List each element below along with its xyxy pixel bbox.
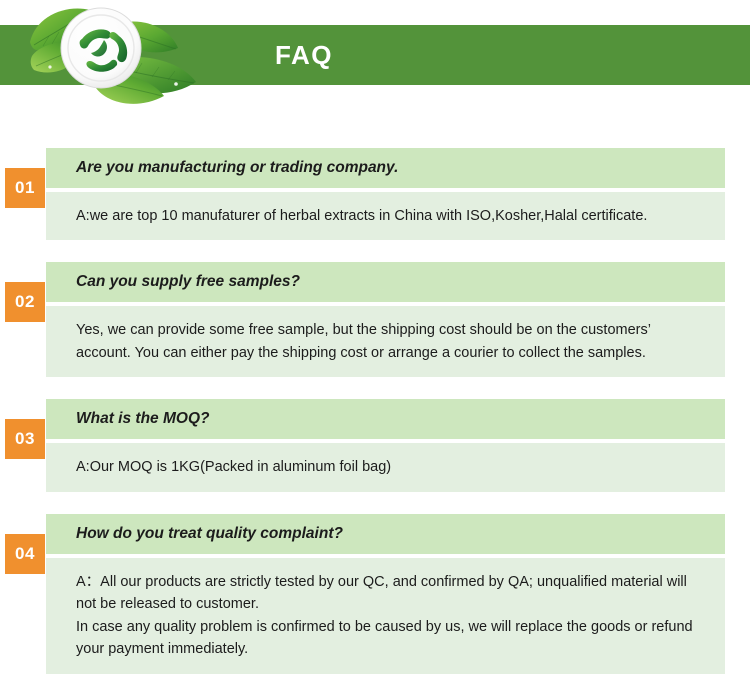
faq-item: 02 Can you supply free samples? Yes, we … — [0, 262, 750, 377]
faq-number-badge: 01 — [5, 168, 45, 208]
faq-item: 01 Are you manufacturing or trading comp… — [0, 148, 750, 240]
faq-answer: A:we are top 10 manufaturer of herbal ex… — [46, 192, 725, 240]
faq-number-badge: 02 — [5, 282, 45, 322]
page-header: FAQ — [0, 0, 750, 120]
faq-item: 03 What is the MOQ? A:Our MOQ is 1KG(Pac… — [0, 399, 750, 491]
faq-item: 04 How do you treat quality complaint? A… — [0, 514, 750, 674]
faq-question[interactable]: Are you manufacturing or trading company… — [46, 148, 725, 188]
faq-answer-line: A:Our MOQ is 1KG(Packed in aluminum foil… — [76, 456, 707, 478]
faq-answer: A：All our products are strictly tested b… — [46, 558, 725, 674]
leaf-recycle-logo-icon — [18, 0, 223, 115]
faq-number-badge: 03 — [5, 419, 45, 459]
page-title: FAQ — [275, 25, 333, 85]
faq-answer-line: A：All our products are strictly tested b… — [76, 571, 707, 616]
faq-answer-line: Yes, we can provide some free sample, bu… — [76, 319, 707, 364]
faq-question[interactable]: What is the MOQ? — [46, 399, 725, 439]
faq-answer: Yes, we can provide some free sample, bu… — [46, 306, 725, 377]
faq-answer: A:Our MOQ is 1KG(Packed in aluminum foil… — [46, 443, 725, 491]
faq-question[interactable]: How do you treat quality complaint? — [46, 514, 725, 554]
faq-answer-line: A:we are top 10 manufaturer of herbal ex… — [76, 205, 707, 227]
faq-question[interactable]: Can you supply free samples? — [46, 262, 725, 302]
faq-list: 01 Are you manufacturing or trading comp… — [0, 120, 750, 674]
faq-number-badge: 04 — [5, 534, 45, 574]
faq-answer-line: In case any quality problem is confirmed… — [76, 616, 707, 661]
